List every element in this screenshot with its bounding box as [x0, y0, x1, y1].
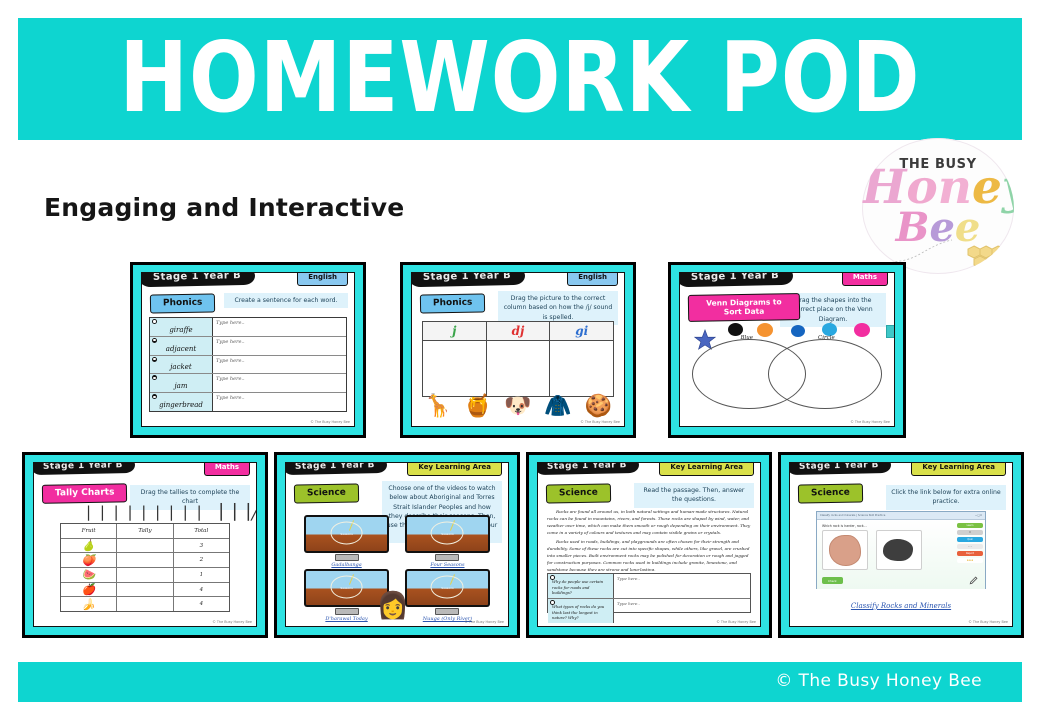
instruction-text: Create a sentence for each word.: [224, 293, 348, 308]
score-badge: 0: [957, 530, 983, 535]
word-label: adjacent: [166, 345, 196, 353]
subject-tag-english: English: [567, 272, 618, 286]
tally-dropzone[interactable]: [117, 597, 173, 611]
quiz-button[interactable]: Quiz: [957, 537, 983, 542]
video-thumbnail[interactable]: Seasons: [405, 569, 490, 607]
sort-columns: j dj gi: [422, 321, 614, 397]
passage-text: Rocks are found all around us, in both n…: [547, 509, 751, 571]
table-row: gingerbread Type here..: [150, 393, 346, 411]
student-illustration-icon: 👩: [377, 592, 409, 618]
subject-tag-english: English: [297, 272, 348, 286]
monitor-stand-icon: [435, 554, 459, 561]
word-label: jacket: [170, 363, 191, 371]
slide-card-reading-passage[interactable]: Stage 1 Year B Key Learning Area Science…: [526, 452, 772, 638]
slide-card-science-videos[interactable]: Stage 1 Year B Key Learning Area Science…: [274, 452, 520, 638]
stage-label: Stage 1 Year B: [141, 272, 255, 287]
sort-column[interactable]: j: [423, 322, 487, 396]
answer-input[interactable]: Type here..: [213, 374, 346, 392]
total-value: 4: [174, 583, 229, 597]
learn-button[interactable]: Learn: [957, 523, 983, 528]
instruction-text: Read the passage. Then, answer the quest…: [634, 483, 754, 508]
passage-paragraph: Rocks are found all around us, in both n…: [547, 509, 751, 537]
monitor-stand-icon: [435, 608, 459, 615]
subheading: Engaging and Interactive: [44, 193, 404, 222]
questions-table: Why do people use certain rocks for road…: [547, 573, 751, 613]
fruit-icon-watermelon: 🍉: [61, 568, 117, 582]
venn-label-blue: Blue: [740, 335, 753, 341]
header-total: Total: [174, 524, 229, 538]
video-thumbnail[interactable]: Seasons: [405, 515, 490, 553]
video-item[interactable]: Seasons Four Seasons: [405, 515, 490, 568]
total-value: 3: [174, 539, 229, 553]
audio-icon[interactable]: [152, 357, 157, 362]
sandstone-rock-icon: [829, 535, 861, 566]
subject-tag-kla: Key Learning Area: [911, 462, 1006, 476]
video-screen-text: Seasons: [340, 586, 352, 590]
table-row: adjacent Type here..: [150, 337, 346, 356]
check-button[interactable]: Check: [822, 577, 843, 584]
browser-controls-icon: ⚊□✕: [975, 514, 982, 517]
loose-tally-marks[interactable]: | | | | | | | | | ▕▕▕╱ | | | |: [86, 503, 226, 519]
header-fruit: Fruit: [61, 524, 117, 538]
tally-dropzone[interactable]: [117, 539, 173, 553]
video-item[interactable]: Seasons Gadalbanga: [304, 515, 389, 568]
slide-copyright: © The Busy Honey Bee: [212, 620, 252, 624]
slide-copyright: © The Busy Honey Bee: [310, 420, 350, 424]
slide-copyright: © The Busy Honey Bee: [716, 620, 756, 624]
slide-card-venn-diagram[interactable]: Stage 1 Year B Maths Venn Diagrams to So…: [668, 262, 906, 438]
slide-card-tally-chart[interactable]: Stage 1 Year B Maths Tally Charts Drag t…: [22, 452, 268, 638]
gingerbread-man-icon[interactable]: 🍪: [585, 395, 612, 417]
jam-jar-icon[interactable]: 🍯: [464, 395, 491, 417]
table-row: giraffe Type here..: [150, 318, 346, 337]
red-jacket-icon[interactable]: 🧥: [544, 395, 571, 417]
rock-option-1[interactable]: [822, 530, 868, 570]
rock-option-2[interactable]: [876, 530, 922, 570]
topic-tag-science: Science: [798, 483, 863, 503]
audio-icon[interactable]: [152, 338, 157, 343]
topic-tag-science: Science: [294, 483, 359, 503]
audio-icon[interactable]: [152, 375, 157, 380]
giraffe-icon[interactable]: 🦒: [424, 395, 451, 417]
answer-input[interactable]: Type here..: [614, 574, 750, 598]
word-label: giraffe: [169, 326, 192, 334]
sort-column[interactable]: dj: [487, 322, 551, 396]
slide-copyright: © The Busy Honey Bee: [850, 420, 890, 424]
topic-tag-science: Science: [546, 483, 611, 503]
busy-honey-bee-logo: THE BUSY Honey Bee: [862, 138, 1014, 274]
question-label: What types of rocks do you think last th…: [552, 604, 604, 620]
audio-icon[interactable]: [152, 394, 157, 399]
practice-link[interactable]: Classify Rocks and Minerals: [790, 602, 1012, 610]
venn-diagram: Blue Circle: [690, 335, 884, 414]
word-cell: giraffe: [150, 318, 213, 336]
tally-dropzone[interactable]: [117, 583, 173, 597]
video-caption[interactable]: Four Seasons: [405, 562, 490, 568]
passage-paragraph: Rocks used in roads, buildings, and play…: [547, 539, 751, 571]
table-row: 🍑 2: [61, 553, 229, 568]
browser-screenshot[interactable]: Classify rocks and minerals | Science Sk…: [816, 511, 986, 589]
pencil-icon: [969, 575, 979, 585]
stage-label: Stage 1 Year B: [411, 272, 525, 287]
topic-tag-tally: Tally Charts: [42, 483, 128, 503]
total-value: 4: [174, 597, 229, 611]
obsidian-rock-icon: [883, 539, 913, 561]
video-grid: Seasons Gadalbanga Seasons Four Seasons …: [300, 515, 494, 616]
video-screen-text: Seasons: [441, 586, 453, 590]
phonics-table: giraffe Type here.. adjacent Type here..…: [149, 317, 347, 412]
total-value: 1: [174, 568, 229, 582]
audio-icon[interactable]: [152, 319, 157, 324]
tally-dropzone[interactable]: [117, 553, 173, 567]
word-cell: adjacent: [150, 337, 213, 355]
slide-card-phonics-sentences[interactable]: Stage 1 Year B English Phonics Create a …: [130, 262, 366, 438]
page-title: HOMEWORK POD: [18, 7, 1022, 151]
answer-input[interactable]: Type here..: [213, 393, 346, 411]
table-row: Why do people use certain rocks for road…: [548, 574, 750, 599]
video-thumbnail[interactable]: Seasons: [304, 515, 389, 553]
venn-circle-right[interactable]: [768, 339, 883, 409]
sort-column[interactable]: gi: [550, 322, 613, 396]
subject-tag-maths: Maths: [842, 272, 888, 286]
word-label: jam: [175, 382, 188, 390]
browser-address-bar[interactable]: Classify rocks and minerals | Science Sk…: [817, 512, 985, 520]
table-row: jam Type here..: [150, 374, 346, 393]
audio-icon[interactable]: [550, 575, 555, 580]
footer-copyright: © The Busy Honey Bee: [775, 671, 982, 691]
honeycomb-icon: [966, 244, 1008, 270]
browser-question: Which rock is harder, rock...: [822, 524, 950, 528]
word-cell: gingerbread: [150, 393, 213, 411]
fruit-icon-banana: 🍌: [61, 597, 117, 611]
fruit-icon-apple: 🍎: [61, 583, 117, 597]
video-caption[interactable]: Gadalbanga: [304, 562, 389, 568]
report-button[interactable]: Report: [957, 551, 983, 556]
topic-tag-phonics: Phonics: [150, 293, 216, 313]
monitor-stand-icon: [335, 554, 359, 561]
slide-card-j-sound-sort[interactable]: Stage 1 Year B English Phonics Drag the …: [400, 262, 636, 438]
progress-indicator: - - -: [957, 544, 983, 549]
subject-tag-kla: Key Learning Area: [659, 462, 754, 476]
browser-url: Classify rocks and minerals | Science Sk…: [820, 514, 885, 517]
topic-tag-venn: Venn Diagrams to Sort Data: [688, 293, 800, 322]
total-value: 2: [174, 553, 229, 567]
subject-tag-kla: Key Learning Area: [407, 462, 502, 476]
question-cell: What types of rocks do you think last th…: [548, 599, 614, 623]
table-row: jacket Type here..: [150, 356, 346, 375]
answer-input[interactable]: Type here..: [213, 337, 346, 355]
question-cell: Why do people use certain rocks for road…: [548, 574, 614, 598]
topic-tag-phonics: Phonics: [420, 293, 486, 313]
answer-input[interactable]: Type here..: [213, 318, 346, 336]
top-banner: HOMEWORK POD: [18, 18, 1022, 140]
slide-copyright: © The Busy Honey Bee: [464, 620, 504, 624]
star-rating-icon: ★★★: [957, 558, 983, 563]
stage-label: Stage 1 Year B: [789, 462, 891, 475]
answer-input[interactable]: Type here..: [213, 356, 346, 374]
instruction-text: Drag the picture to the correct column b…: [498, 291, 618, 325]
dog-kennel-icon[interactable]: 🐶: [504, 395, 531, 417]
column-header: j: [423, 322, 486, 341]
slide-copyright: © The Busy Honey Bee: [580, 420, 620, 424]
slide-card-online-practice[interactable]: Stage 1 Year B Key Learning Area Science…: [778, 452, 1024, 638]
slide-copyright: © The Busy Honey Bee: [968, 620, 1008, 624]
stage-label: Stage 1 Year B: [285, 462, 387, 475]
table-row: 🍌 4: [61, 597, 229, 611]
table-header-row: Fruit Tally Total: [61, 524, 229, 539]
video-screen-text: Seasons: [340, 532, 352, 536]
tally-dropzone[interactable]: [117, 568, 173, 582]
column-header: dj: [487, 322, 550, 341]
table-row: 🍐 3: [61, 539, 229, 554]
draggable-pictures: 🦒 🍯 🐶 🧥 🍪: [424, 387, 612, 417]
stage-label: Stage 1 Year B: [33, 462, 135, 475]
instruction-text: Click the link below for extra online pr…: [886, 485, 1006, 510]
table-row: 🍉 1: [61, 568, 229, 583]
footer-banner: © The Busy Honey Bee: [18, 662, 1022, 702]
homework-pod-page: HOMEWORK POD Engaging and Interactive TH…: [0, 0, 1040, 720]
word-cell: jam: [150, 374, 213, 392]
stage-label: Stage 1 Year B: [679, 272, 793, 287]
subject-tag-maths: Maths: [204, 462, 250, 476]
teal-square-shape[interactable]: [886, 325, 895, 338]
stage-label: Stage 1 Year B: [537, 462, 639, 475]
word-label: gingerbread: [159, 401, 203, 409]
word-cell: jacket: [150, 356, 213, 374]
column-header: gi: [550, 322, 613, 341]
tally-table: Fruit Tally Total 🍐 3 🍑 2: [60, 523, 230, 612]
fruit-icon-pear: 🍐: [61, 539, 117, 553]
table-row: 🍎 4: [61, 583, 229, 598]
video-screen-text: Seasons: [441, 532, 453, 536]
fruit-icon-peach: 🍑: [61, 553, 117, 567]
question-label: Why do people use certain rocks for road…: [552, 579, 603, 595]
video-item[interactable]: Seasons Nuuga (Only River): [405, 569, 490, 622]
header-tally: Tally: [117, 524, 173, 538]
venn-label-circle: Circle: [818, 335, 835, 341]
monitor-stand-icon: [335, 608, 359, 615]
